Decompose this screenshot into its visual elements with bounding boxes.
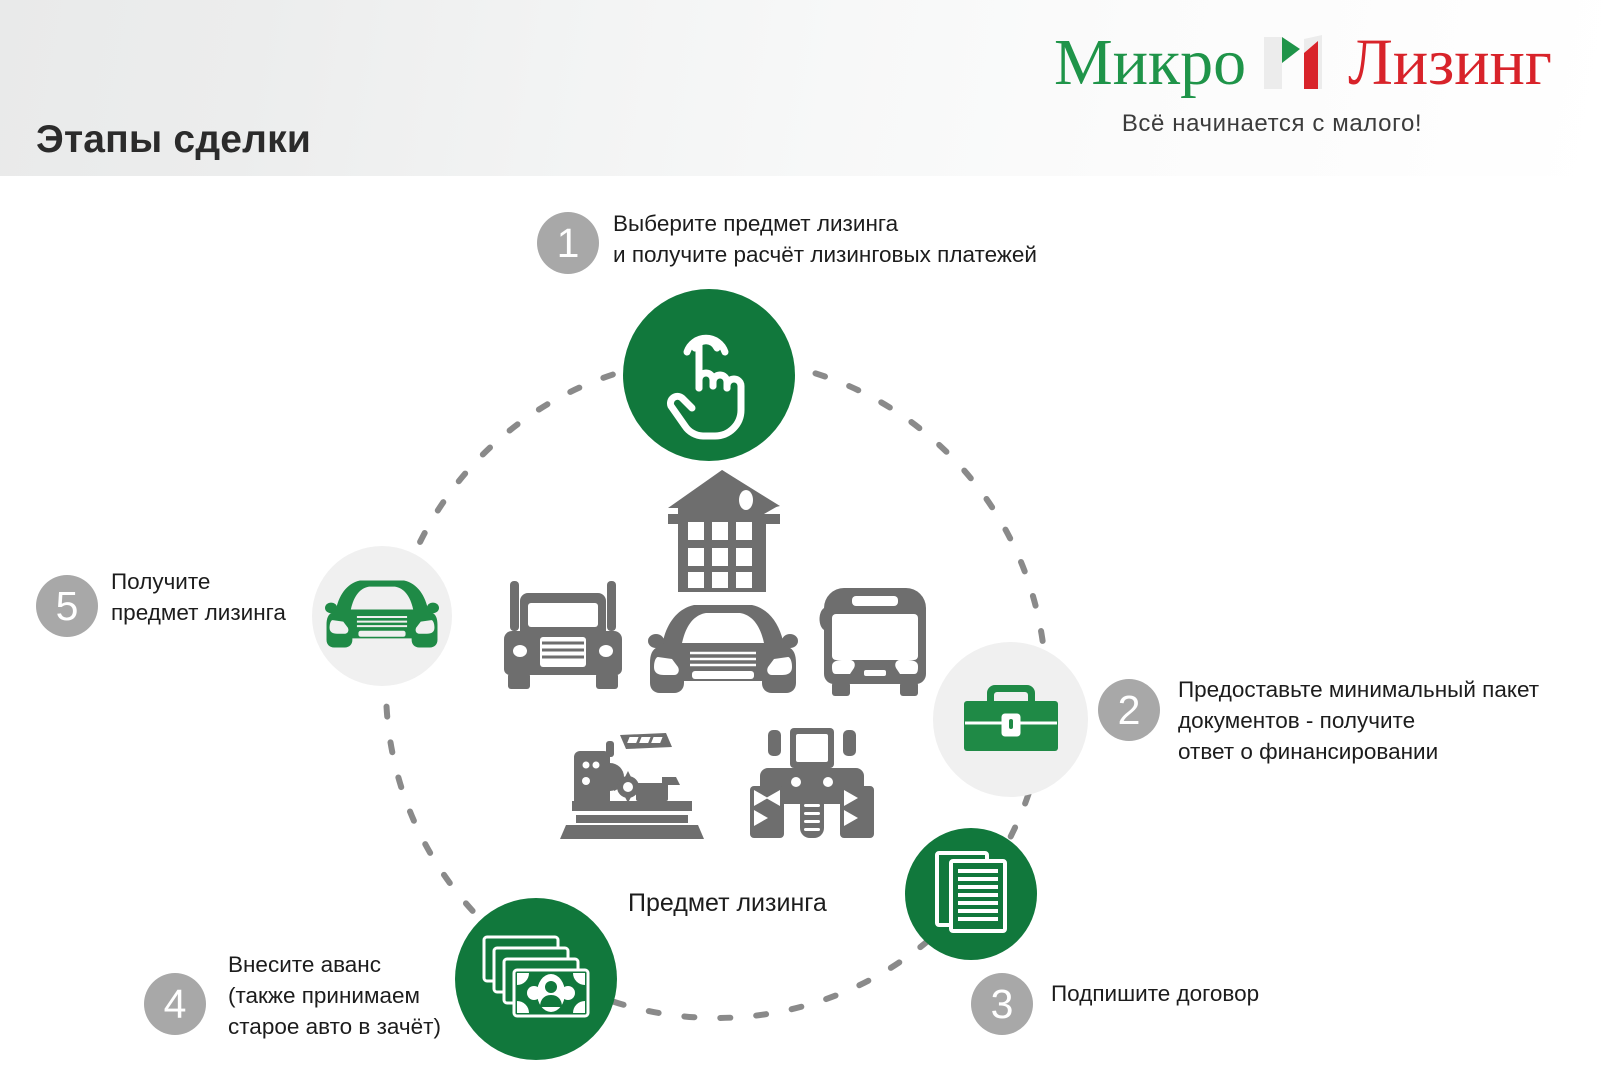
step-caption-2: Предоставьте минимальный пакет документо… — [1178, 674, 1539, 767]
infographic-page: Этапы сделки Микро Лизинг Всё начинается… — [0, 0, 1604, 1080]
step-node-1[interactable] — [623, 289, 795, 461]
logo-wordmark: Микро Лизинг — [992, 22, 1552, 104]
step-node-4[interactable] — [455, 898, 617, 1060]
step-badge-1: 1 — [537, 212, 599, 274]
hand-tap-icon — [661, 322, 757, 429]
car-icon — [648, 599, 798, 699]
logo-word-leasing: Лизинг — [1348, 30, 1552, 96]
step-badge-4: 4 — [144, 973, 206, 1035]
step-node-3[interactable] — [905, 828, 1037, 960]
step-node-2[interactable] — [933, 642, 1088, 797]
center-label: Предмет лизинга — [628, 889, 827, 918]
logo-word-micro: Микро — [1054, 30, 1246, 96]
machine-tool-icon — [562, 731, 702, 841]
banknotes-icon — [482, 935, 590, 1024]
truck-icon — [502, 579, 624, 699]
step-node-5[interactable] — [312, 546, 452, 686]
logo-slogan: Всё начинается с малого! — [992, 110, 1552, 138]
building-icon — [660, 466, 790, 601]
italian-flag-emblem-icon — [1260, 33, 1334, 93]
company-logo: Микро Лизинг Всё начинается с малого! — [992, 22, 1552, 148]
process-diagram: Предмет лизинга 1 Выберите предмет лизин… — [0, 176, 1604, 1080]
step-badge-5: 5 — [36, 575, 98, 637]
briefcase-icon — [963, 679, 1059, 760]
step-badge-3: 3 — [971, 973, 1033, 1035]
contract-document-icon — [935, 851, 1007, 938]
step-badge-2: 2 — [1098, 679, 1160, 741]
step-caption-5: Получите предмет лизинга — [111, 566, 286, 628]
step-caption-1: Выберите предмет лизинга и получите расч… — [613, 208, 1037, 270]
step-caption-4: Внесите аванс (также принимаем старое ав… — [228, 949, 441, 1042]
page-title: Этапы сделки — [36, 118, 311, 162]
car-icon — [325, 576, 439, 657]
step-caption-3: Подпишите договор — [1051, 978, 1259, 1009]
tractor-icon — [752, 724, 872, 842]
bus-icon — [820, 586, 930, 701]
leasing-subject-icons — [480, 466, 940, 866]
